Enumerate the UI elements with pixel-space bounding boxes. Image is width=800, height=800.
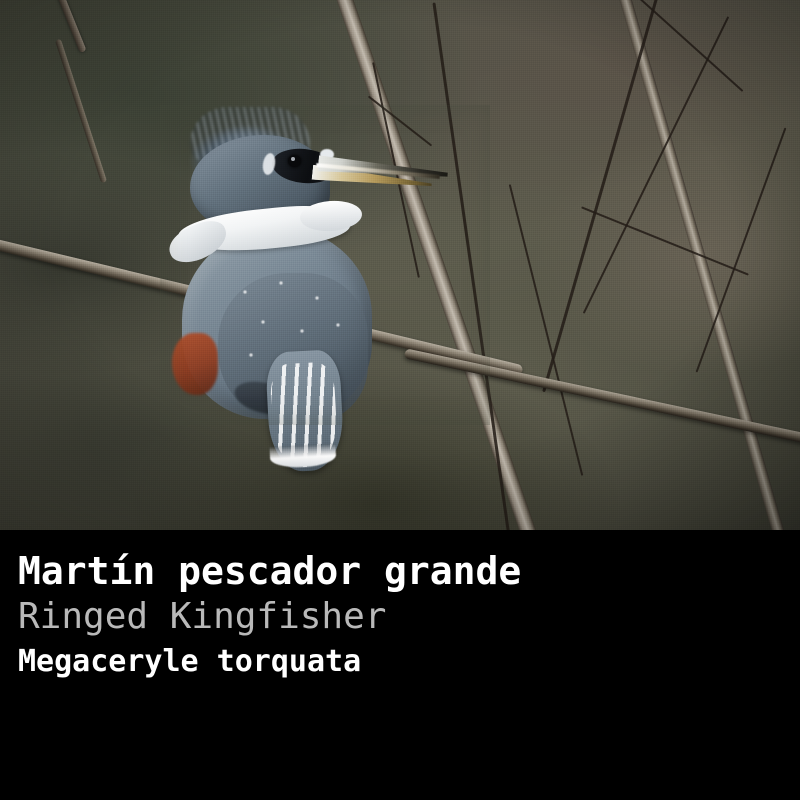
common-name-spanish: Martín pescador grande <box>18 548 592 594</box>
scientific-name: Megaceryle torquata <box>18 640 592 684</box>
bird-photograph <box>0 0 800 530</box>
caption-band: Martín pescador grande Ringed Kingfisher… <box>0 530 800 800</box>
photo-card: Martín pescador grande Ringed Kingfisher… <box>0 0 800 800</box>
species-titles: Martín pescador grande Ringed Kingfisher… <box>18 548 592 684</box>
common-name-english: Ringed Kingfisher <box>18 594 592 640</box>
photo-vignette <box>0 0 800 530</box>
